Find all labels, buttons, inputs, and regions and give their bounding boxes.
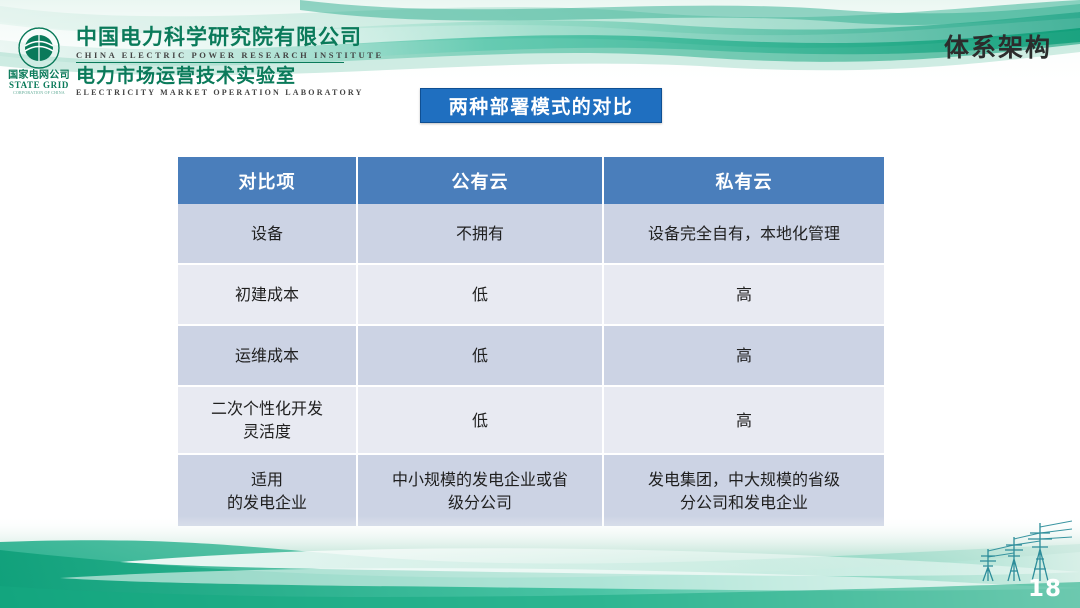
row-label: 设备 (178, 204, 358, 265)
bottom-wave-decoration (0, 516, 1080, 608)
state-grid-en-label: STATE GRID (8, 81, 70, 90)
public-cloud-value: 不拥有 (358, 204, 604, 265)
table-row: 二次个性化开发 灵活度 低 高 (178, 387, 884, 455)
table-row: 设备 不拥有 设备完全自有，本地化管理 (178, 204, 884, 265)
state-grid-emblem-icon (14, 26, 64, 70)
row-label: 运维成本 (178, 326, 358, 387)
public-cloud-value: 低 (358, 387, 604, 455)
private-cloud-value: 高 (604, 387, 884, 455)
private-cloud-value: 高 (604, 265, 884, 326)
state-grid-logo: 国家电网公司 STATE GRID CORPORATION OF CHINA (8, 26, 70, 90)
table-header-row: 对比项 公有云 私有云 (178, 157, 884, 204)
page-number: 18 (1028, 576, 1062, 602)
org-cn-line1: 中国电力科学研究院有限公司 (76, 26, 384, 49)
comparison-table: 对比项 公有云 私有云 设备 不拥有 设备完全自有，本地化管理 初建成本 低 高… (178, 157, 884, 528)
private-cloud-value: 设备完全自有，本地化管理 (604, 204, 884, 265)
column-header-item: 对比项 (178, 157, 358, 204)
org-en-line2: ELECTRICITY MARKET OPERATION LABORATORY (76, 87, 384, 98)
table-row: 初建成本 低 高 (178, 265, 884, 326)
org-en-line1: CHINA ELECTRIC POWER RESEARCH INSTITUTE (76, 49, 384, 61)
private-cloud-value: 高 (604, 326, 884, 387)
row-label: 二次个性化开发 灵活度 (178, 387, 358, 455)
column-header-public-cloud: 公有云 (358, 157, 604, 204)
slide-title-text: 两种部署模式的对比 (449, 92, 634, 119)
slide-title-banner: 两种部署模式的对比 (420, 88, 662, 123)
state-grid-en-sub-label: CORPORATION OF CHINA (8, 90, 70, 95)
column-header-private-cloud: 私有云 (604, 157, 884, 204)
org-name-block: 中国电力科学研究院有限公司 CHINA ELECTRIC POWER RESEA… (76, 26, 384, 98)
logo-block: 国家电网公司 STATE GRID CORPORATION OF CHINA 中… (8, 26, 384, 98)
section-label: 体系架构 (944, 28, 1052, 64)
table-row: 运维成本 低 高 (178, 326, 884, 387)
org-divider (76, 62, 344, 63)
org-cn-line2: 电力市场运营技术实验室 (76, 66, 384, 87)
slide: 国家电网公司 STATE GRID CORPORATION OF CHINA 中… (0, 0, 1080, 608)
row-label: 初建成本 (178, 265, 358, 326)
public-cloud-value: 低 (358, 326, 604, 387)
public-cloud-value: 低 (358, 265, 604, 326)
